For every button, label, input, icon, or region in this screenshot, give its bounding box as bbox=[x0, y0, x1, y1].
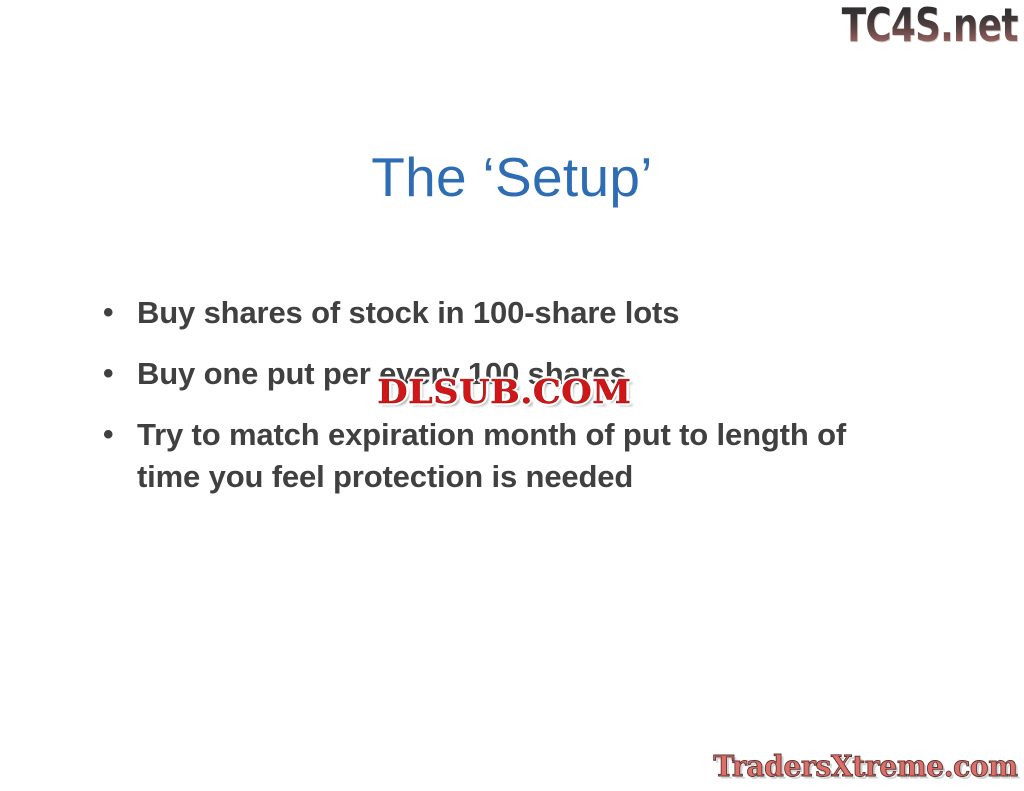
bullet-item-1: • Buy shares of stock in 100-share lots bbox=[100, 292, 900, 334]
bullet-dot-icon: • bbox=[100, 414, 137, 456]
bullet-item-3: • Try to match expiration month of put t… bbox=[100, 414, 900, 498]
bullet-dot-icon: • bbox=[100, 353, 137, 395]
slide-title: The ‘Setup’ bbox=[0, 145, 1024, 209]
dlsub-watermark: DLSUB.COM bbox=[372, 373, 637, 412]
bullet-item-3-label: Try to match expiration month of put to … bbox=[137, 414, 879, 498]
bullet-item-1-label: Buy shares of stock in 100-share lots bbox=[137, 292, 879, 334]
slide-canvas: TC4S.net The ‘Setup’ • Buy shares of sto… bbox=[0, 0, 1024, 791]
tc4s-brand-logo: TC4S.net bbox=[842, 2, 1018, 48]
tradersxtreme-brand-logo: TradersXtreme.com bbox=[714, 750, 1018, 782]
bullet-dot-icon: • bbox=[100, 292, 137, 334]
